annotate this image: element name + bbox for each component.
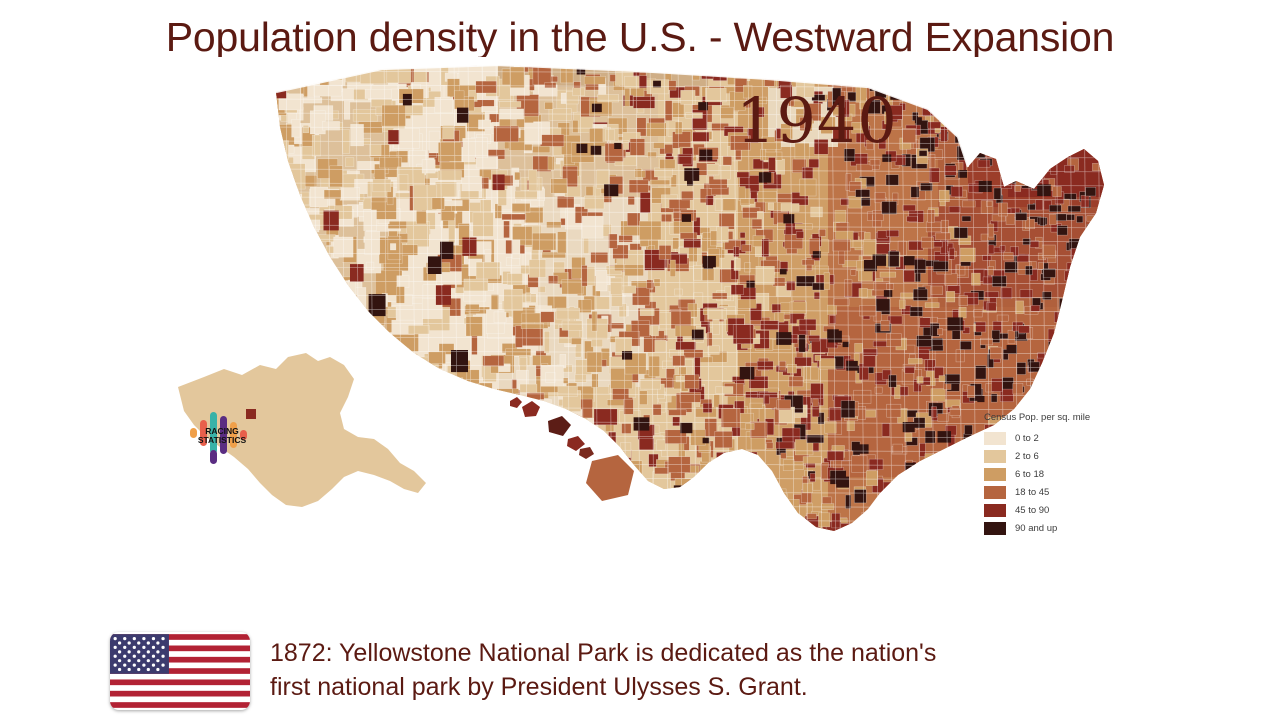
legend-item-label: 6 to 18 [1015,469,1044,480]
caption-line-2: first national park by President Ulysses… [270,670,936,704]
us-county-choropleth-svg [168,57,1122,617]
us-flag-svg [110,632,250,710]
screenshot-root: Population density in the U.S. - Westwar… [0,0,1280,720]
legend-swatch-icon [984,432,1006,445]
page-title: Population density in the U.S. - Westwar… [0,14,1280,61]
logo-line2: STATISTICS [198,435,247,445]
legend-item: 90 and up [984,519,1114,537]
legend-item: 45 to 90 [984,501,1114,519]
us-flag-icon [110,632,250,710]
legend-swatch-icon [984,468,1006,481]
year-label: 1940 [736,90,898,152]
legend-item: 18 to 45 [984,483,1114,501]
racing-statistics-logo: RACING STATISTICS [186,398,258,470]
legend-item-label: 45 to 90 [1015,505,1049,516]
logo-bars-icon: RACING STATISTICS [186,398,258,470]
legend-swatch-icon [984,486,1006,499]
legend-item-label: 0 to 2 [1015,433,1039,444]
legend-item: 0 to 2 [984,429,1114,447]
legend-item-label: 2 to 6 [1015,451,1039,462]
choropleth-map [168,57,1122,617]
legend-item: 6 to 18 [984,465,1114,483]
legend-item-label: 90 and up [1015,523,1057,534]
legend-item-label: 18 to 45 [1015,487,1049,498]
legend-title: Census Pop. per sq. mile [984,412,1114,423]
legend-swatch-icon [984,504,1006,517]
legend-item: 2 to 6 [984,447,1114,465]
legend-swatch-icon [984,522,1006,535]
caption-text: 1872: Yellowstone National Park is dedic… [270,632,936,704]
map-legend: Census Pop. per sq. mile 0 to 2 2 to 6 6… [984,412,1114,537]
caption-bar: 1872: Yellowstone National Park is dedic… [110,632,1180,712]
caption-line-1: 1872: Yellowstone National Park is dedic… [270,636,936,670]
legend-swatch-icon [984,450,1006,463]
